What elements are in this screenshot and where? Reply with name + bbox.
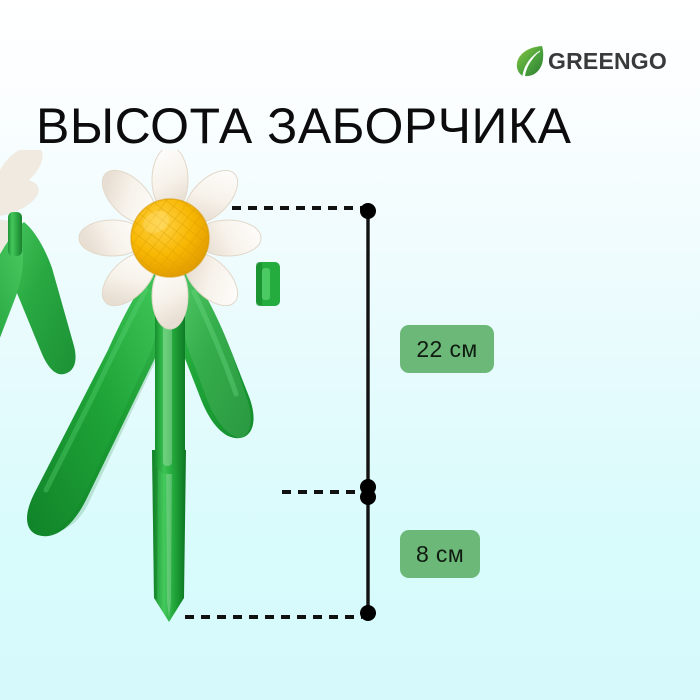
neighbour-flower-partial <box>0 150 76 424</box>
dimension-dot-top <box>360 203 376 219</box>
measurement-badge-lower-label: 8 см <box>416 541 464 568</box>
dimension-dot-middle-upper <box>360 479 376 495</box>
brand-wordmark: GREENGO <box>548 50 667 73</box>
daisy-flower-head <box>79 150 261 329</box>
measurement-badge-lower: 8 см <box>400 530 480 578</box>
leaf-icon <box>515 44 545 78</box>
dimension-dot-middle-lower <box>360 489 376 505</box>
page-title: ВЫСОТА ЗАБОРЧИКА <box>36 97 571 155</box>
product-stake <box>152 450 186 622</box>
connector-clip <box>256 262 280 306</box>
infographic-canvas: 22 см 8 см ВЫСОТА ЗАБОРЧИКА GREENGO <box>0 0 700 700</box>
product-illustration <box>0 150 340 650</box>
measurement-badge-upper-label: 22 см <box>416 336 477 363</box>
dimension-dot-bottom <box>360 605 376 621</box>
brand-logo: GREENGO <box>515 40 665 82</box>
measurement-badge-upper: 22 см <box>400 325 494 373</box>
